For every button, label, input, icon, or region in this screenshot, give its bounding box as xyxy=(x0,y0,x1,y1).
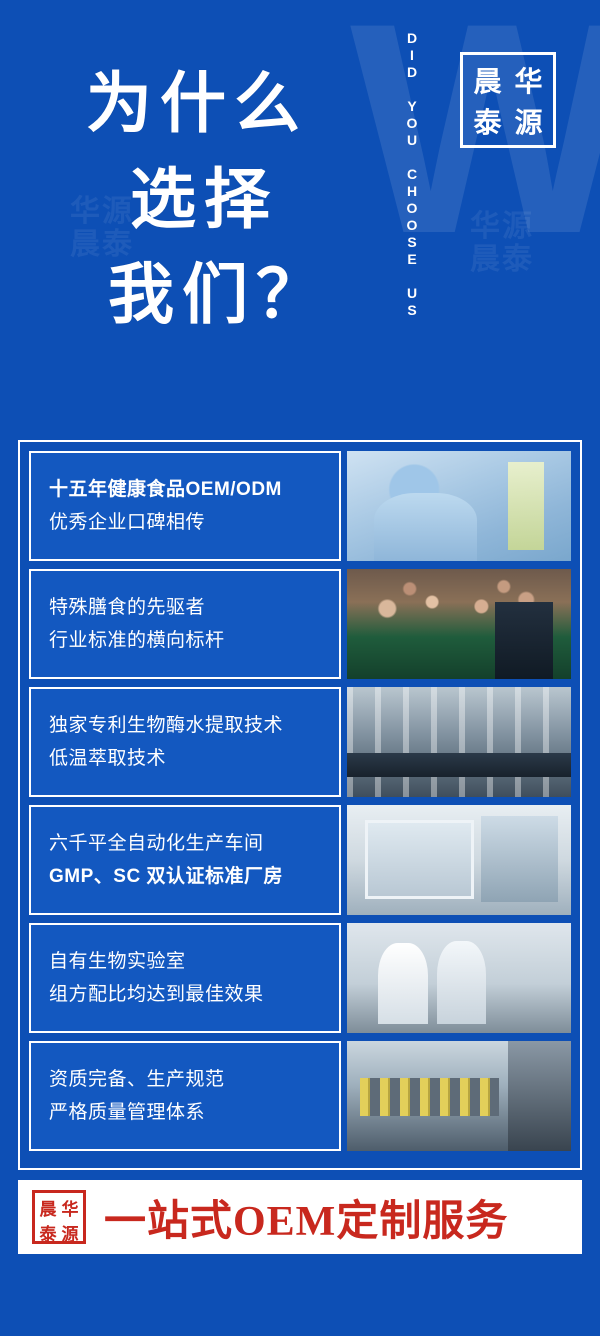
advantage-4-line-1: 六千平全自动化生产车间 xyxy=(49,827,339,860)
list-item: 十五年健康食品OEM/ODM 优秀企业口碑相传 xyxy=(29,451,571,561)
footer-logo-glyph-tai: 泰 xyxy=(37,1220,59,1245)
advantage-text-5: 自有生物实验室 组方配比均达到最佳效果 xyxy=(29,923,341,1033)
list-item: 自有生物实验室 组方配比均达到最佳效果 xyxy=(29,923,571,1033)
title-line-1: 为什么 xyxy=(86,56,376,152)
logo-glyph-tai: 泰 xyxy=(467,100,508,141)
advantage-3-line-1: 独家专利生物酶水提取技术 xyxy=(49,709,339,742)
advantage-5-line-1: 自有生物实验室 xyxy=(49,945,339,978)
advantage-text-4: 六千平全自动化生产车间 GMP、SC 双认证标准厂房 xyxy=(29,805,341,915)
advantage-photo-lab-technician-inspecting-vial xyxy=(347,451,571,561)
footer-logo-glyph-hua: 华 xyxy=(59,1195,81,1220)
advantage-text-6: 资质完备、生产规范 严格质量管理体系 xyxy=(29,1041,341,1151)
advantage-3-line-2: 低温萃取技术 xyxy=(49,742,339,775)
subtitle-english-vertical: DID YOU CHOOSE US xyxy=(404,30,430,400)
advantage-text-2: 特殊膳食的先驱者 行业标准的横向标杆 xyxy=(29,569,341,679)
bottom-strip xyxy=(0,1254,600,1336)
poster-header: 为什么 选择 我们？ DID YOU CHOOSE US 晨 华 泰 源 xyxy=(0,0,600,430)
advantage-photo-conference-audience-meeting xyxy=(347,569,571,679)
poster-root: { "theme": { "background_blue": "#0d4fb5… xyxy=(0,0,600,1336)
footer-slogan: 一站式OEM定制服务 xyxy=(104,1187,508,1248)
advantage-photo-bottling-filling-production-line xyxy=(347,687,571,797)
advantage-2-line-2: 行业标准的横向标杆 xyxy=(49,624,339,657)
advantage-5-line-2: 组方配比均达到最佳效果 xyxy=(49,978,339,1011)
title-line-2: 选择 xyxy=(130,152,376,248)
advantage-photo-two-researchers-in-white-coats xyxy=(347,923,571,1033)
advantage-1-line-1: 十五年健康食品OEM/ODM xyxy=(49,473,339,506)
list-item: 六千平全自动化生产车间 GMP、SC 双认证标准厂房 xyxy=(29,805,571,915)
list-item: 独家专利生物酶水提取技术 低温萃取技术 xyxy=(29,687,571,797)
footer-logo-glyph-chen: 晨 xyxy=(37,1195,59,1220)
list-item: 资质完备、生产规范 严格质量管理体系 xyxy=(29,1041,571,1151)
brand-logo-stamp: 晨 华 泰 源 xyxy=(460,52,556,148)
page-title: 为什么 选择 我们？ xyxy=(86,56,376,343)
advantage-text-3: 独家专利生物酶水提取技术 低温萃取技术 xyxy=(29,687,341,797)
advantages-panel: 十五年健康食品OEM/ODM 优秀企业口碑相传 特殊膳食的先驱者 行业标准的横向… xyxy=(18,440,582,1170)
advantage-1-line-2: 优秀企业口碑相传 xyxy=(49,506,339,539)
footer-banner: 晨 华 泰 源 一站式OEM定制服务 xyxy=(18,1180,582,1254)
advantage-4-line-2: GMP、SC 双认证标准厂房 xyxy=(49,860,339,893)
advantage-photo-blister-packing-machine xyxy=(347,1041,571,1151)
advantage-photo-clean-room-workshop-corridor xyxy=(347,805,571,915)
footer-logo-glyph-yuan: 源 xyxy=(59,1220,81,1245)
advantage-text-1: 十五年健康食品OEM/ODM 优秀企业口碑相传 xyxy=(29,451,341,561)
logo-glyph-hua: 华 xyxy=(508,59,549,100)
list-item: 特殊膳食的先驱者 行业标准的横向标杆 xyxy=(29,569,571,679)
footer-brand-stamp: 晨 华 泰 源 xyxy=(32,1190,86,1244)
advantage-6-line-2: 严格质量管理体系 xyxy=(49,1096,339,1129)
advantage-6-line-1: 资质完备、生产规范 xyxy=(49,1063,339,1096)
title-line-3: 我们？ xyxy=(108,247,376,343)
advantage-2-line-1: 特殊膳食的先驱者 xyxy=(49,591,339,624)
logo-glyph-chen: 晨 xyxy=(467,59,508,100)
logo-glyph-yuan: 源 xyxy=(508,100,549,141)
